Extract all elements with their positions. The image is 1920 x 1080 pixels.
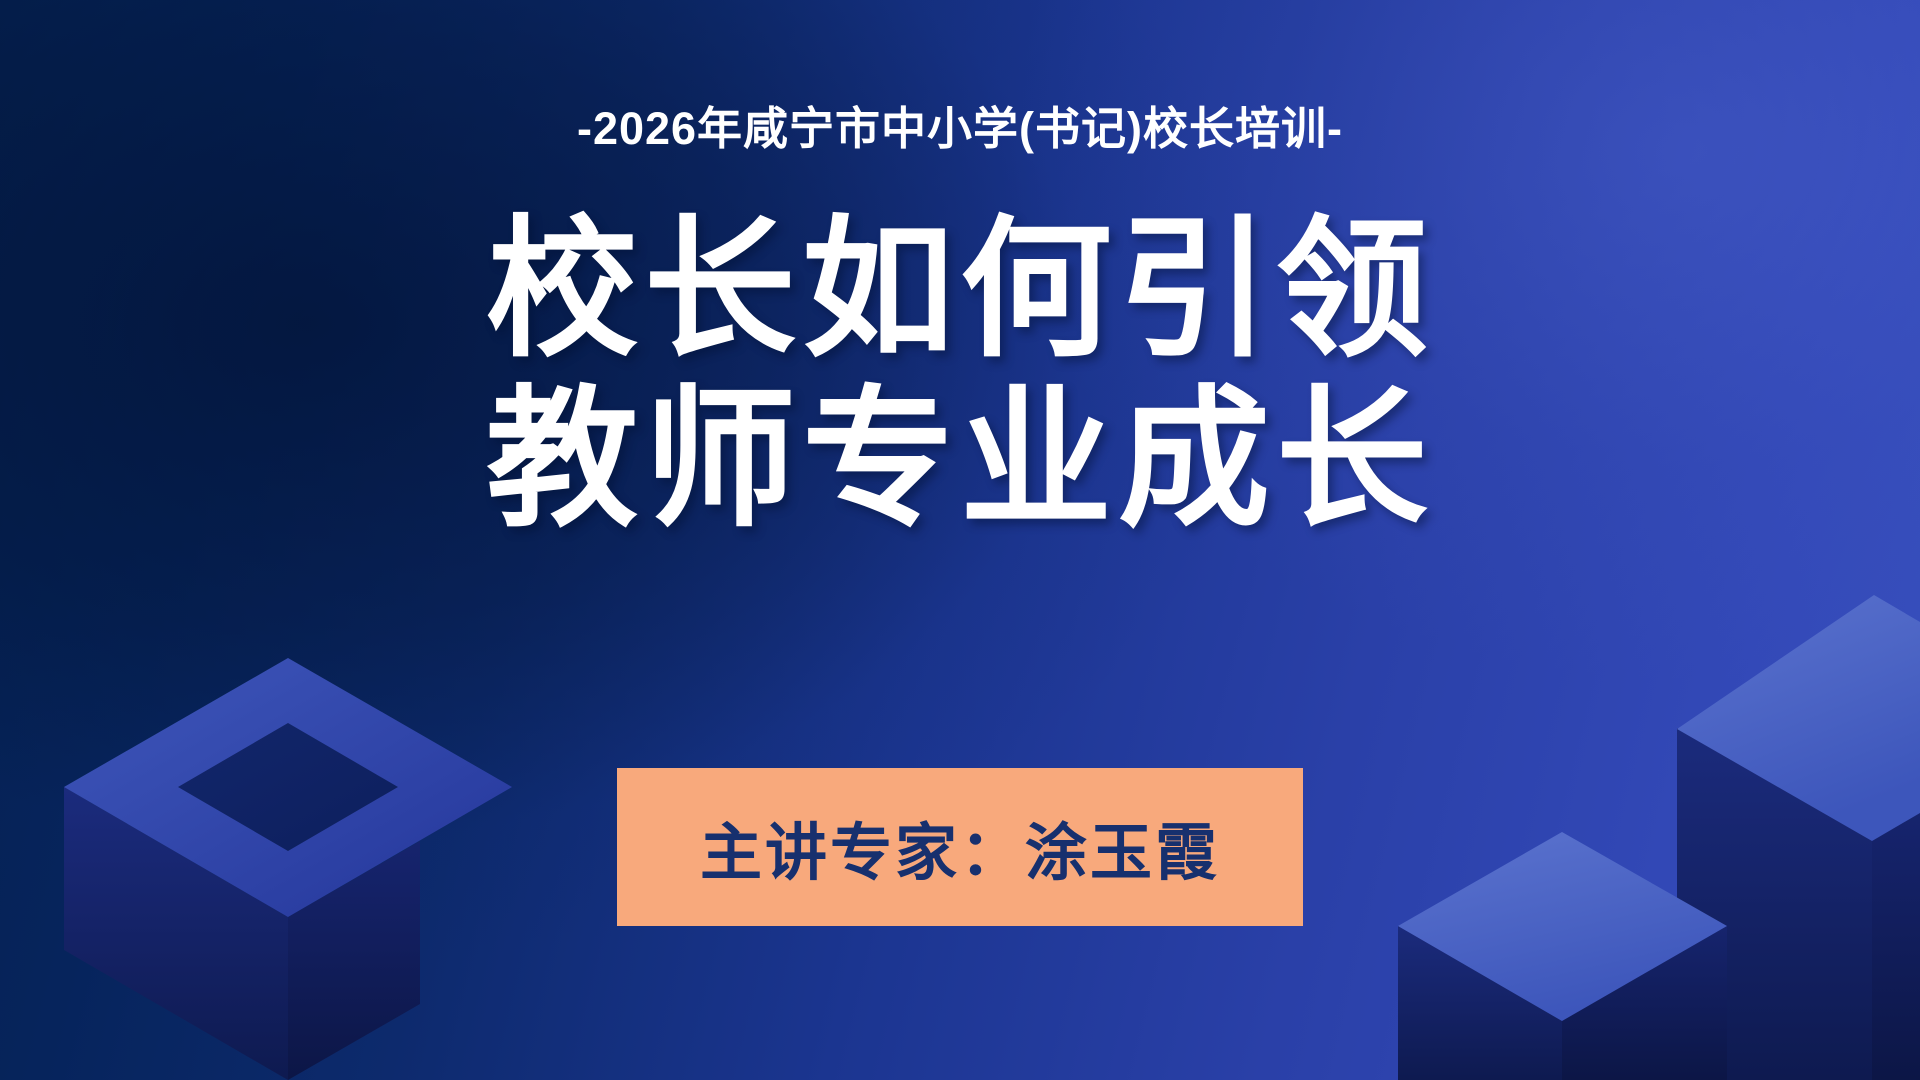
presentation-slide: -2026年咸宁市中小学(书记)校长培训- 校长如何引领 教师专业成长 主讲专家… bbox=[0, 0, 1920, 1080]
title-line-1: 校长如何引领 bbox=[0, 206, 1920, 376]
speaker-banner: 主讲专家：涂玉霞 bbox=[617, 768, 1303, 926]
slide-title: 校长如何引领 教师专业成长 bbox=[0, 206, 1920, 546]
speaker-label: 主讲专家：涂玉霞 bbox=[700, 802, 1220, 892]
slide-subtitle: -2026年咸宁市中小学(书记)校长培训- bbox=[0, 102, 1920, 156]
title-line-2: 教师专业成长 bbox=[0, 376, 1920, 546]
